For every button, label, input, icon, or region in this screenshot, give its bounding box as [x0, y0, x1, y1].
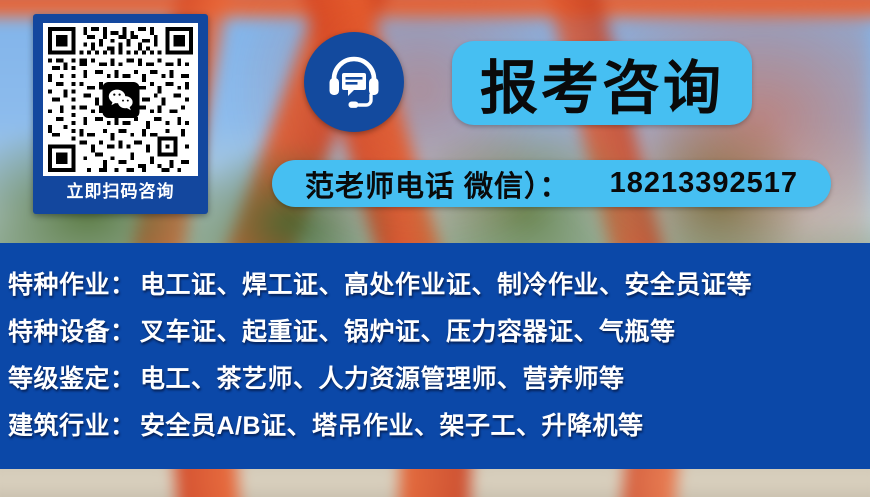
wechat-icon — [102, 82, 139, 118]
qr-label: 立即扫码咨询 — [67, 183, 175, 200]
bottom-photo-strip — [0, 469, 870, 497]
category-items: 安全员A/B证、塔吊作业、架子工、升降机等 — [140, 406, 870, 442]
category-items: 电工、茶艺师、人力资源管理师、营养师等 — [140, 359, 870, 395]
category-label: 等级鉴定： — [8, 359, 140, 395]
contact-phone-number[interactable]: 18213392517 — [610, 167, 798, 200]
category-row-special-equipment: 特种设备： 叉车证、起重证、锅炉证、压力容器证、气瓶等 — [0, 306, 870, 353]
category-label: 特种作业： — [8, 265, 140, 301]
headset-chat-icon — [323, 51, 385, 113]
headset-support-icon — [304, 32, 404, 132]
contact-name-label: 范老师电话 微信）： — [305, 163, 570, 205]
category-label: 建筑行业： — [8, 406, 140, 442]
promo-poster: 立即扫码咨询 报考咨询 范老师电话 微信）： 18213392517 特种作业：… — [0, 0, 870, 497]
wechat-bubbles-icon — [107, 88, 134, 112]
category-row-grade-assessment: 等级鉴定： 电工、茶艺师、人力资源管理师、营养师等 — [0, 353, 870, 400]
qr-card[interactable]: 立即扫码咨询 — [33, 14, 208, 214]
page-title: 报考咨询 — [480, 41, 724, 125]
category-row-special-operations: 特种作业： 电工证、焊工证、高处作业证、制冷作业、安全员证等 — [0, 259, 870, 306]
course-category-panel: 特种作业： 电工证、焊工证、高处作业证、制冷作业、安全员证等 特种设备： 叉车证… — [0, 243, 870, 469]
title-pill: 报考咨询 — [452, 41, 752, 125]
contact-pill[interactable]: 范老师电话 微信）： 18213392517 — [272, 160, 831, 207]
bottom-photo-image — [0, 469, 870, 497]
category-label: 特种设备： — [8, 312, 140, 348]
category-items: 电工证、焊工证、高处作业证、制冷作业、安全员证等 — [140, 265, 870, 301]
qr-code-image — [43, 23, 198, 176]
category-row-construction-industry: 建筑行业： 安全员A/B证、塔吊作业、架子工、升降机等 — [0, 400, 870, 447]
category-items: 叉车证、起重证、锅炉证、压力容器证、气瓶等 — [140, 312, 870, 348]
